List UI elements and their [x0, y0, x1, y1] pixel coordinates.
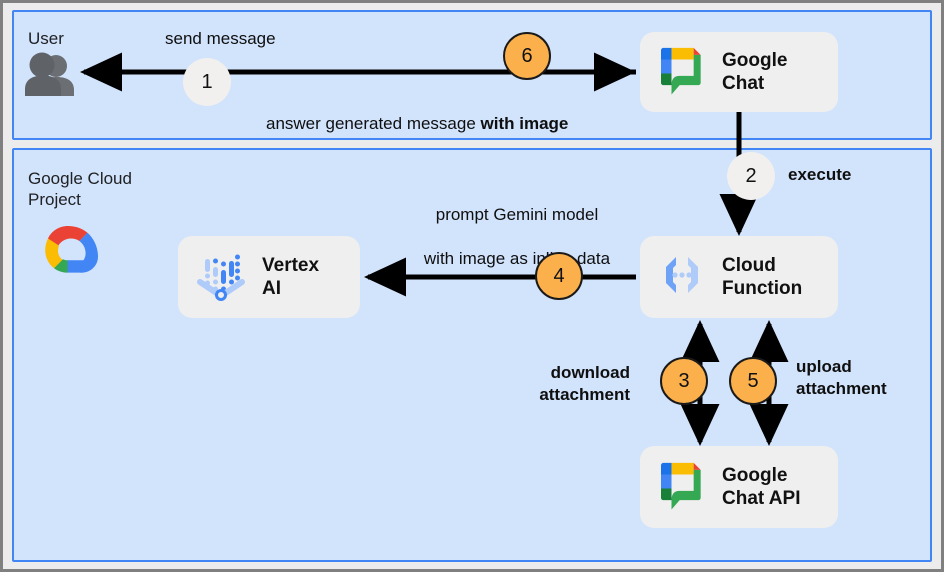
- node-label-google-chat: Google Chat: [722, 49, 787, 95]
- node-cloud-function[interactable]: Cloud Function: [640, 236, 838, 318]
- google-chat-icon: [654, 42, 710, 103]
- edge-label-execute: execute: [788, 164, 851, 186]
- node-google-chat[interactable]: Google Chat: [640, 32, 838, 112]
- step-badge-6: 6: [503, 32, 551, 80]
- vertex-ai-icon: [192, 246, 250, 309]
- edge-label-download-attachment: download attachment: [460, 362, 630, 406]
- node-vertex-ai[interactable]: Vertex AI: [178, 236, 360, 318]
- with-image-text: with image: [481, 114, 569, 133]
- edge-label-upload-attachment: upload attachment: [796, 356, 887, 400]
- edge-label-send-message: send message: [165, 28, 276, 50]
- step-badge-3: 3: [660, 357, 708, 405]
- node-label-google-chat-api: Google Chat API: [722, 464, 800, 510]
- node-google-chat-api[interactable]: Google Chat API: [640, 446, 838, 528]
- node-label-cloud-function: Cloud Function: [722, 254, 802, 300]
- step-badge-5: 5: [729, 357, 777, 405]
- cloud-function-icon: [654, 247, 710, 308]
- edge-label-answer-generated: answer generated message with image: [266, 91, 568, 135]
- users-icon: [24, 52, 76, 96]
- answer-generated-text: answer generated message: [266, 114, 481, 133]
- prompt-gemini-text: prompt Gemini model: [372, 204, 662, 226]
- edge-label-prompt-gemini: prompt Gemini model with image as inline…: [372, 182, 662, 292]
- diagram-canvas: User send message answer generated messa…: [0, 0, 944, 572]
- panel-user-title: User: [28, 28, 64, 49]
- node-label-vertex-ai: Vertex AI: [262, 254, 319, 300]
- step-badge-2: 2: [727, 152, 775, 200]
- panel-gcp-title: Google Cloud Project: [28, 168, 132, 210]
- step-badge-4: 4: [535, 252, 583, 300]
- step-badge-1: 1: [183, 58, 231, 106]
- google-cloud-icon: [32, 220, 104, 282]
- with-image-inline-text: with image as inline data: [372, 248, 662, 270]
- google-chat-icon: [654, 457, 710, 518]
